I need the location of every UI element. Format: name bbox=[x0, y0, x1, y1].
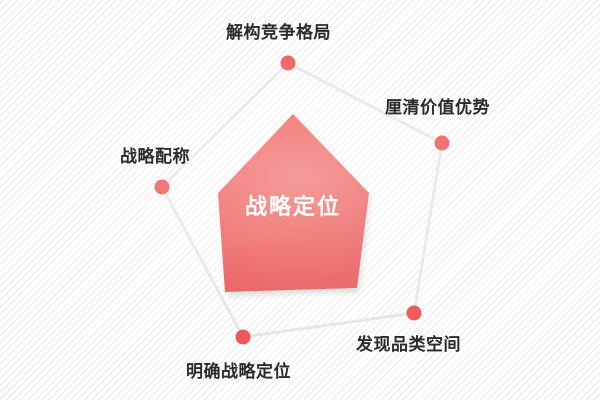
node-label-upper-right: 厘清价值优势 bbox=[385, 99, 490, 116]
node-label-lower-right: 发现品类空间 bbox=[356, 336, 461, 353]
node-dot-left[interactable] bbox=[155, 180, 170, 195]
node-dot-upper-right[interactable] bbox=[435, 136, 450, 151]
node-dot-bottom[interactable] bbox=[236, 330, 251, 345]
center-pentagon-shape bbox=[218, 114, 369, 292]
node-label-bottom: 明确战略定位 bbox=[186, 363, 291, 380]
node-label-left: 战略配称 bbox=[120, 148, 190, 165]
diagram-canvas: 解构竞争格局 厘清价值优势 发现品类空间 明确战略定位 战略配称 战略定位 bbox=[0, 0, 600, 400]
node-dot-lower-right[interactable] bbox=[407, 306, 422, 321]
node-label-top: 解构竞争格局 bbox=[226, 24, 331, 41]
node-dot-top[interactable] bbox=[281, 56, 296, 71]
pentagon-diagram bbox=[0, 0, 600, 400]
